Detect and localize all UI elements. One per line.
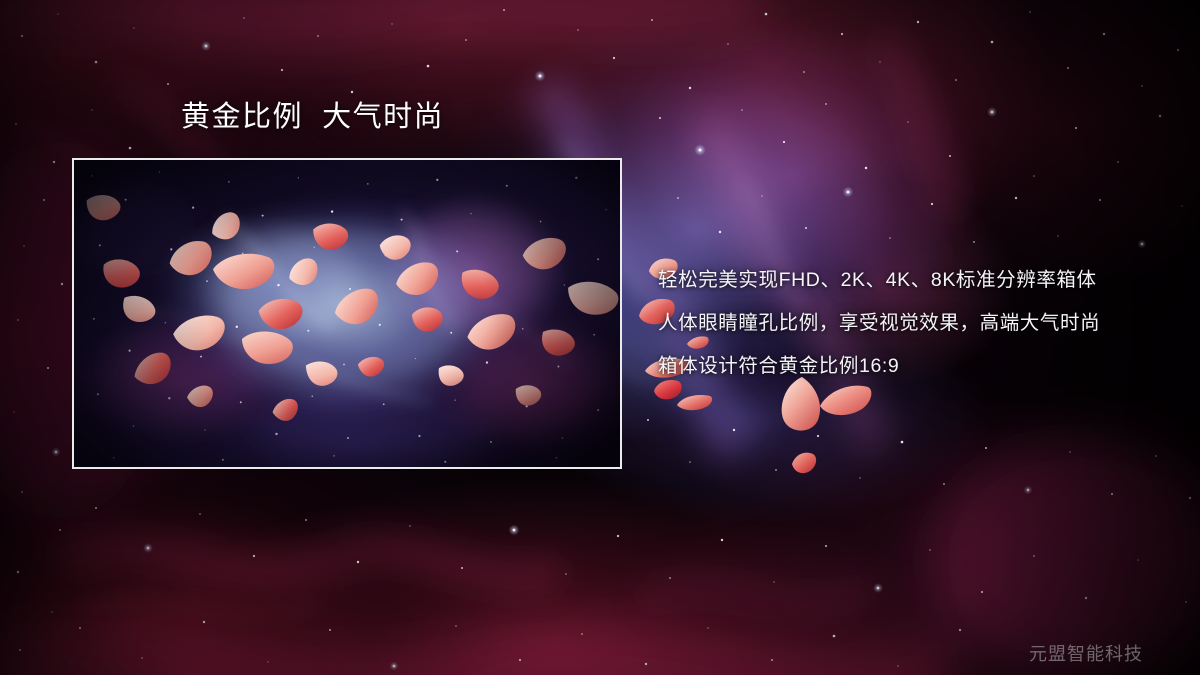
- photo-vignette: [74, 160, 620, 467]
- feature-line-3: 箱体设计符合黄金比例16:9: [658, 345, 1158, 388]
- feature-description: 轻松完美实现FHD、2K、4K、8K标准分辨率箱体 人体眼睛瞳孔比例，享受视觉效…: [658, 259, 1158, 388]
- page-title: 黄金比例 大气时尚: [181, 103, 444, 132]
- slide-canvas: 黄金比例 大气时尚 轻松完美实现FHD、2K、4K、8K标准分辨率箱体 人体眼睛…: [0, 0, 1200, 675]
- framed-nebula-photo: [72, 158, 622, 469]
- feature-line-1: 轻松完美实现FHD、2K、4K、8K标准分辨率箱体: [658, 259, 1158, 302]
- watermark: 元盟智能科技: [1029, 645, 1143, 663]
- feature-line-2: 人体眼睛瞳孔比例，享受视觉效果，高端大气时尚: [658, 302, 1158, 345]
